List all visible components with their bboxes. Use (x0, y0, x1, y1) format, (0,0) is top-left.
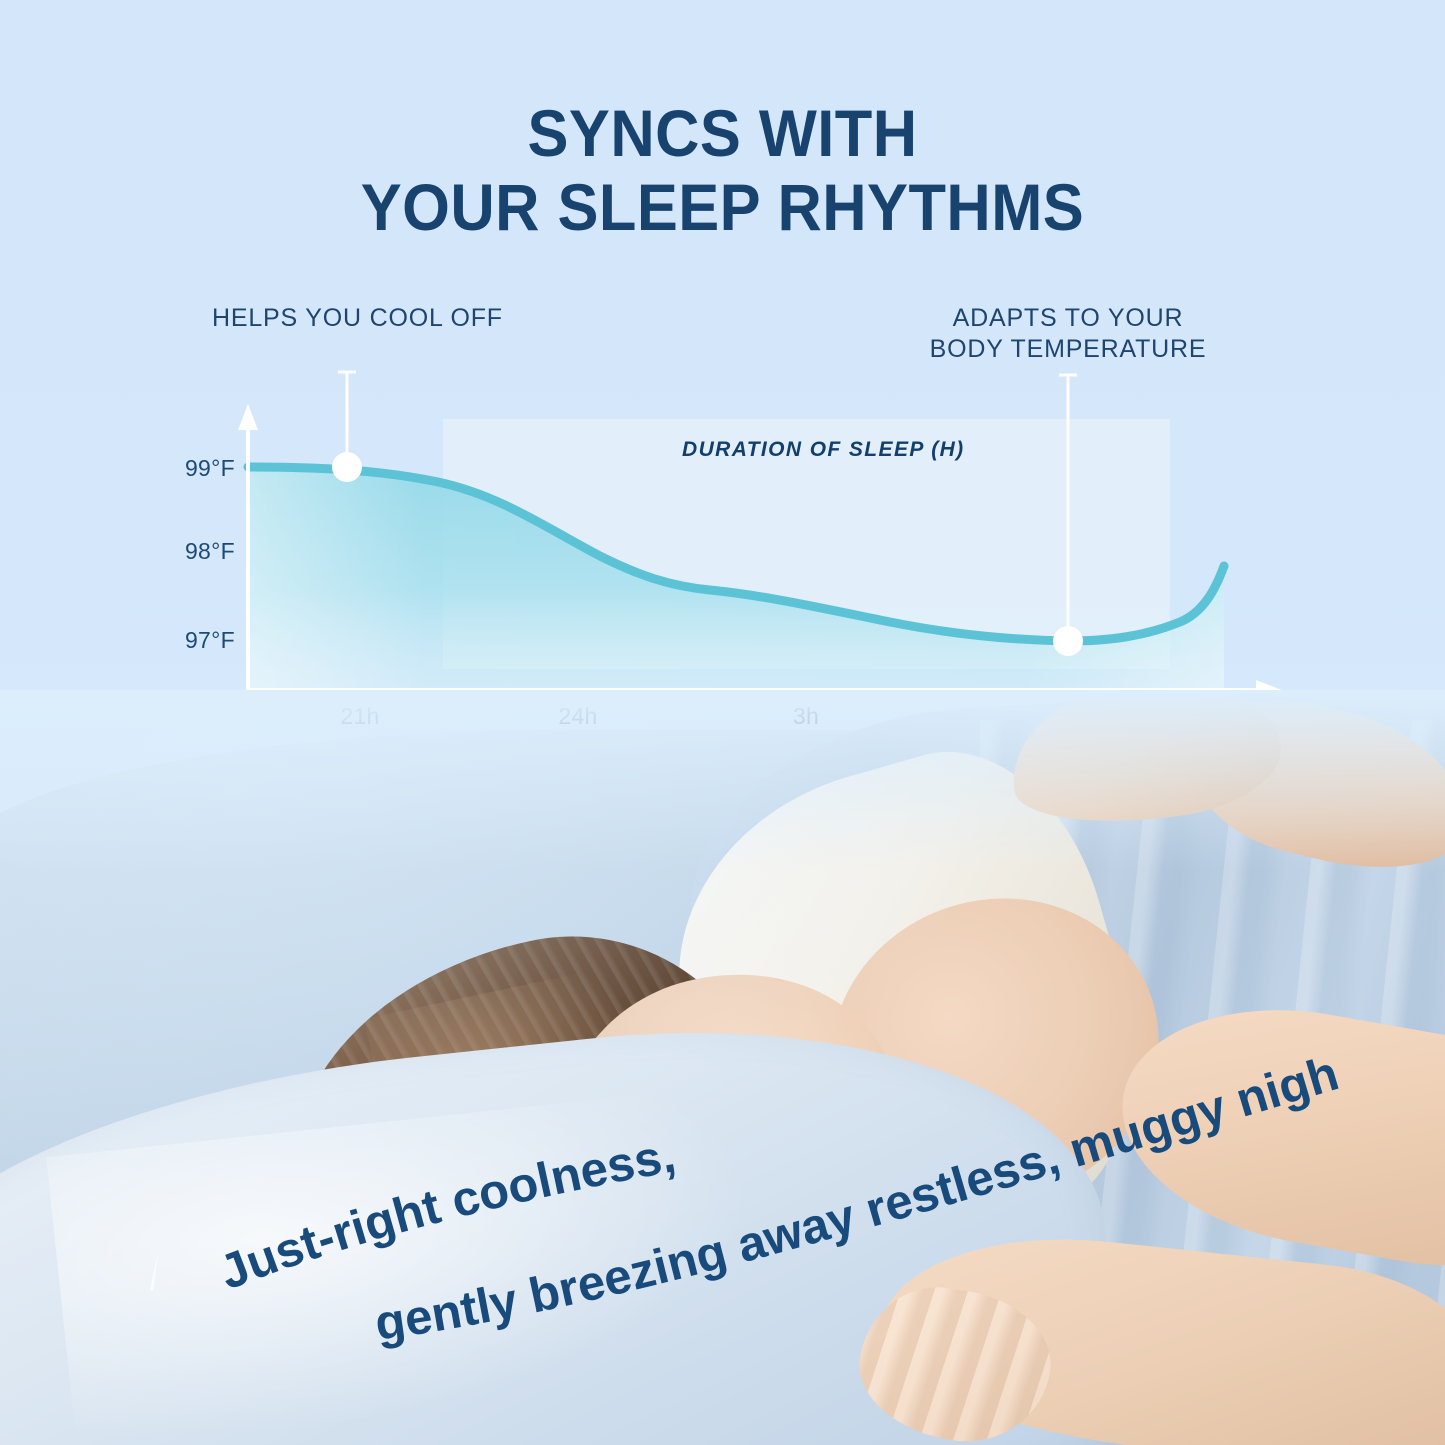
callout-right-line-1: ADAPTS TO YOUR (888, 303, 1248, 334)
chart-marker-body-temperature[interactable] (1053, 626, 1083, 656)
y-axis-arrow-icon (238, 404, 258, 430)
duration-of-sleep-label: DURATION OF SLEEP (H) (682, 438, 965, 462)
callout-label-cool-off: HELPS YOU COOL OFF (212, 303, 503, 334)
y-axis-tick-97f: 97°F (155, 627, 235, 654)
sleeping-woman-photo (0, 690, 1445, 1445)
page-title: SYNCS WITH YOUR SLEEP RHYTHMS (51, 96, 1395, 244)
page-title-line-1: SYNCS WITH (51, 96, 1395, 170)
page-title-line-2: YOUR SLEEP RHYTHMS (51, 170, 1395, 244)
chart-marker-cool-off[interactable] (332, 452, 362, 482)
y-axis-tick-99f: 99°F (155, 455, 235, 482)
photo-top-fade (0, 690, 1445, 870)
y-axis-tick-98f: 98°F (155, 538, 235, 565)
callout-label-body-temperature: ADAPTS TO YOUR BODY TEMPERATURE (888, 303, 1248, 365)
infographic-page: SYNCS WITH YOUR SLEEP RHYTHMS HELPS YOU … (0, 0, 1445, 1445)
